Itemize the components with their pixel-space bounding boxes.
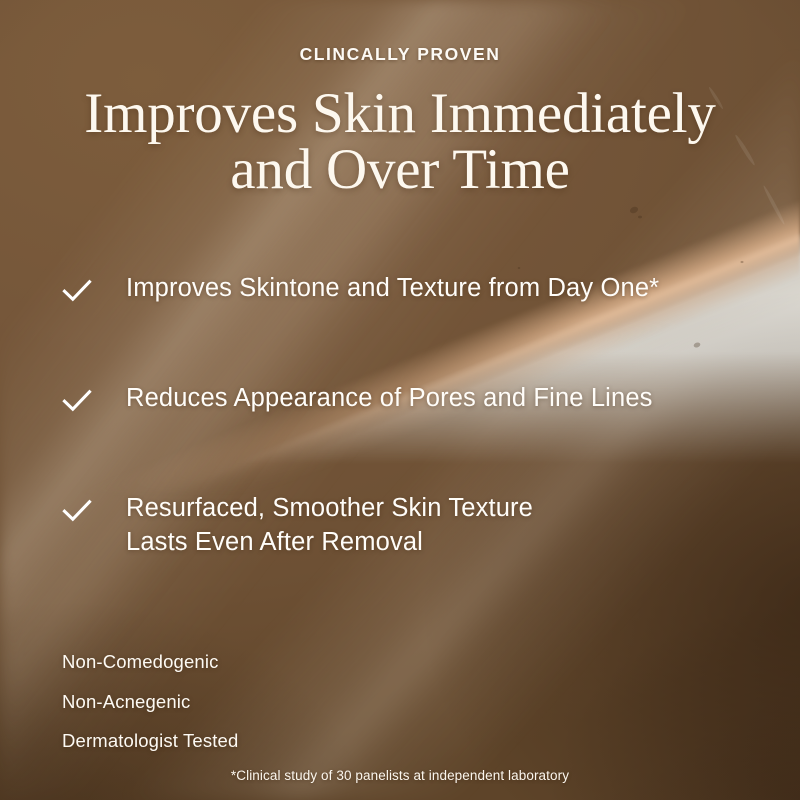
claim-item: Dermatologist Tested [62, 732, 238, 751]
promo-graphic: CLINCALLY PROVEN Improves Skin Immediate… [0, 0, 800, 800]
check-icon [60, 384, 94, 418]
eyebrow-label: CLINCALLY PROVEN [0, 44, 800, 65]
benefit-line-1: Resurfaced, Smoother Skin Texture [126, 492, 533, 526]
claims-list: Non-Comedogenic Non-Acnegenic Dermatolog… [62, 653, 238, 751]
headline-line-2: and Over Time [0, 142, 800, 198]
benefit-item: Reduces Appearance of Pores and Fine Lin… [60, 382, 780, 428]
benefit-item: Improves Skintone and Texture from Day O… [60, 272, 780, 318]
benefit-text: Improves Skintone and Texture from Day O… [126, 272, 659, 306]
benefit-item: Resurfaced, Smoother Skin Texture Lasts … [60, 492, 780, 559]
check-icon [60, 274, 94, 308]
benefit-line-1: Reduces Appearance of Pores and Fine Lin… [126, 382, 653, 416]
benefit-line-1: Improves Skintone and Texture from Day O… [126, 272, 659, 306]
benefit-line-2: Lasts Even After Removal [126, 526, 533, 560]
claim-item: Non-Acnegenic [62, 693, 238, 712]
footnote-disclaimer: *Clinical study of 30 panelists at indep… [0, 768, 800, 783]
claim-item: Non-Comedogenic [62, 653, 238, 672]
benefit-text: Reduces Appearance of Pores and Fine Lin… [126, 382, 653, 416]
benefit-text: Resurfaced, Smoother Skin Texture Lasts … [126, 492, 533, 559]
benefit-list: Improves Skintone and Texture from Day O… [60, 272, 780, 559]
check-icon [60, 494, 94, 528]
page-title: Improves Skin Immediately and Over Time [0, 86, 800, 199]
headline-line-1: Improves Skin Immediately [0, 86, 800, 142]
